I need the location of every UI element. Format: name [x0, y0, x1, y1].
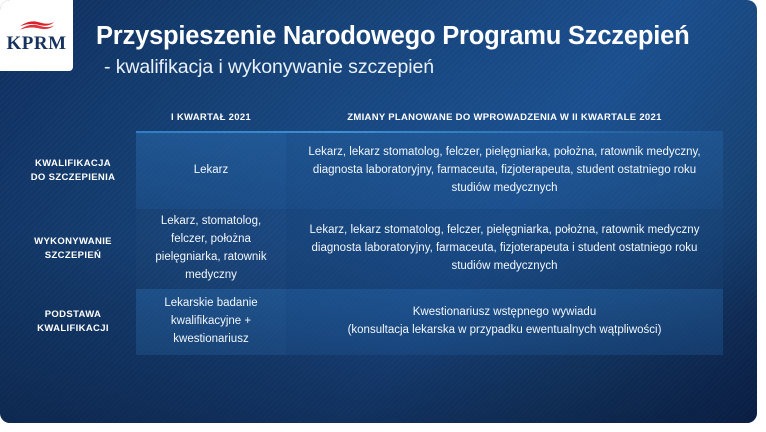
- polish-flag-icon: [18, 18, 56, 33]
- cell-q2-row3: Kwestionariusz wstępnego wywiadu (konsul…: [286, 289, 723, 355]
- cell-q1-row2: Lekarz, stomatolog, felczer, położna pie…: [136, 209, 286, 289]
- header-cell-blank: [10, 104, 136, 131]
- row-label-line2: KWALIFIKACJI: [37, 322, 109, 336]
- row-label-line2: DO SZCZEPIENIA: [31, 171, 116, 185]
- cell-q1-row3: Lekarskie badanie kwalifikacyjne + kwest…: [136, 289, 286, 355]
- row-label-line1: WYKONYWANIE: [34, 235, 112, 249]
- table-header-row: I KWARTAŁ 2021 ZMIANY PLANOWANE DO WPROW…: [10, 104, 723, 131]
- logo-text: KPRM: [6, 34, 66, 53]
- cell-q2-row3-line1: Kwestionariusz wstępnego wywiadu: [348, 304, 662, 322]
- kprm-logo: KPRM: [0, 0, 73, 71]
- header-cell-q2: ZMIANY PLANOWANE DO WPROWADZENIA W II KW…: [286, 104, 723, 131]
- table-row: PODSTAWA KWALIFIKACJI Lekarskie badanie …: [10, 289, 723, 355]
- row-label-line1: PODSTAWA: [37, 308, 109, 322]
- row-label-line2: SZCZEPIEŃ: [34, 249, 112, 263]
- row-label-wykonywanie: WYKONYWANIE SZCZEPIEŃ: [10, 209, 136, 289]
- cell-q2-row1: Lekarz, lekarz stomatolog, felczer, piel…: [286, 133, 723, 209]
- row-label-line1: KWALIFIKACJA: [31, 157, 116, 171]
- slide-canvas: KPRM Przyspieszenie Narodowego Programu …: [0, 0, 757, 423]
- page-subtitle: - kwalifikacja i wykonywanie szczepień: [104, 56, 746, 79]
- page-title: Przyspieszenie Narodowego Programu Szcze…: [96, 22, 746, 51]
- table-row: KWALIFIKACJA DO SZCZEPIENIA Lekarz Lekar…: [10, 133, 723, 209]
- cell-q2-row3-line2: (konsultacja lekarska w przypadku ewentu…: [348, 322, 662, 340]
- header-cell-q1: I KWARTAŁ 2021: [136, 104, 286, 131]
- row-label-podstawa: PODSTAWA KWALIFIKACJI: [10, 289, 136, 355]
- table-row: WYKONYWANIE SZCZEPIEŃ Lekarz, stomatolog…: [10, 209, 723, 289]
- title-block: Przyspieszenie Narodowego Programu Szcze…: [96, 22, 746, 79]
- comparison-table: I KWARTAŁ 2021 ZMIANY PLANOWANE DO WPROW…: [10, 104, 723, 355]
- cell-q2-row2: Lekarz, lekarz stomatolog, felczer, piel…: [286, 209, 723, 289]
- cell-q1-row1: Lekarz: [136, 133, 286, 209]
- row-label-kwalifikacja: KWALIFIKACJA DO SZCZEPIENIA: [10, 133, 136, 209]
